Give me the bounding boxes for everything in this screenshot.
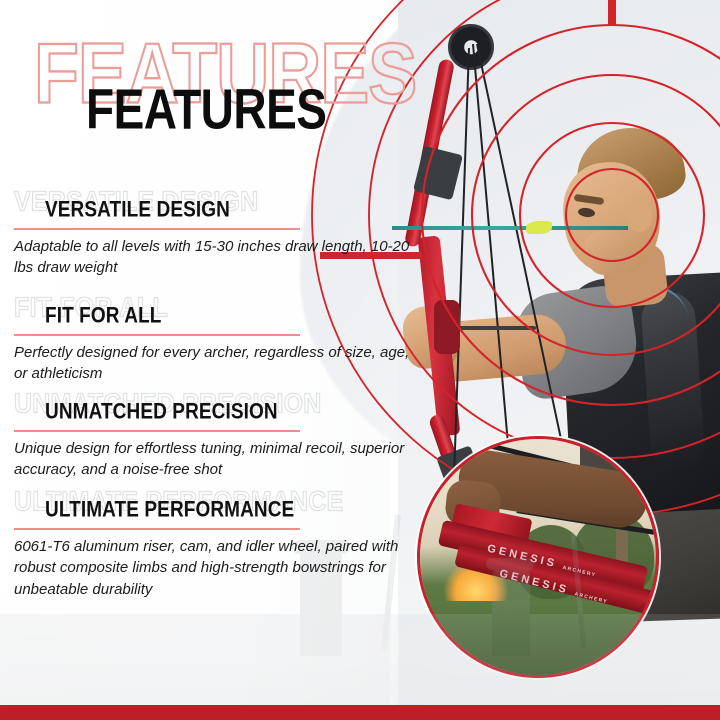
feature-heading: FIT FOR ALL (45, 304, 161, 330)
feature-body-text: Perfectly designed for every archer, reg… (14, 342, 414, 385)
crosshair-tick-top (608, 0, 616, 26)
feature-underline (14, 430, 300, 432)
feature-underline (14, 228, 300, 230)
feature-heading: ULTIMATE PERFORMANCE (45, 498, 294, 524)
feature-underline (14, 528, 300, 530)
feature-body-text: 6061-T6 aluminum riser, cam, and idler w… (14, 536, 414, 600)
feature-heading: UNMATCHED PRECISION (45, 400, 278, 426)
silhouette-archer-child-cap (486, 558, 534, 570)
bottom-red-bar (0, 705, 720, 720)
feature-body-text: Unique design for effortless tuning, min… (14, 438, 414, 481)
silhouette-archer-child (492, 564, 530, 656)
silhouette-ground (0, 648, 720, 706)
feature-heading: VERSATILE DESIGN (45, 198, 230, 224)
infographic-canvas: GENESIS ARCHERY GENESIS ARCHERY FEATURES… (0, 0, 720, 720)
silhouette-treeline (0, 614, 720, 654)
feature-underline (14, 334, 300, 336)
feature-body-text: Adaptable to all levels with 15-30 inche… (14, 236, 414, 279)
page-title: FEATURES (86, 76, 327, 142)
